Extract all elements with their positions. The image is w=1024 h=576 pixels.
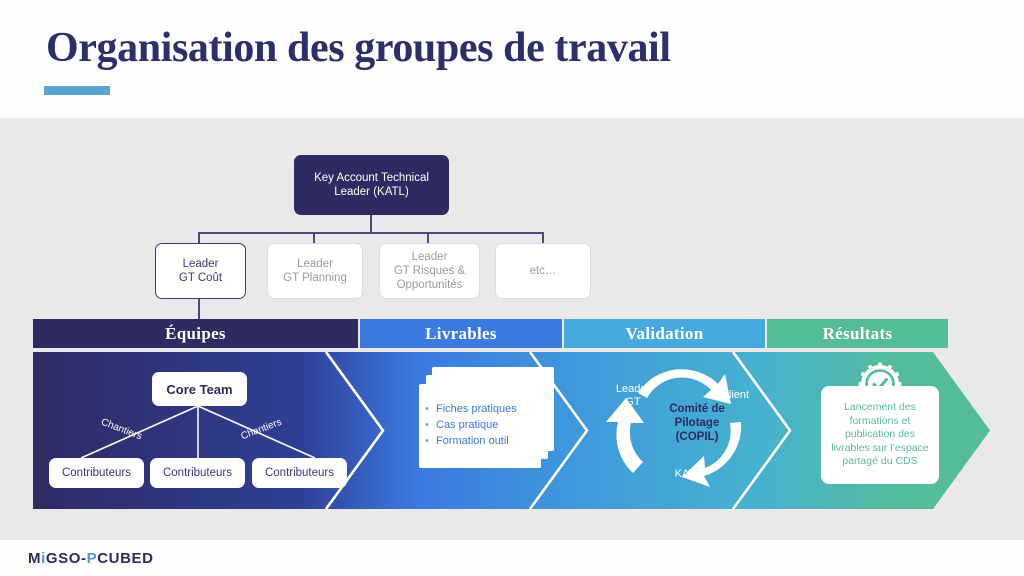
contributor-label-3: Contributeurs [265,467,334,479]
brand-logo: MiGSO-PCUBED [28,550,154,567]
org-node-katl[interactable]: Key Account Technical Leader (KATL) [294,155,449,215]
core-team-label: Core Team [166,382,232,397]
band-header-equipes-label: Équipes [165,324,226,344]
title-underline-rule [44,86,110,95]
org-node-3-line2: GT Risques & [394,265,465,277]
logo-part-3: CUBED [97,550,153,567]
deliverable-label-3: Formation outil [436,435,509,447]
org-node-1-line1: Leader [183,258,219,270]
bullet-icon: ▪ [425,417,436,433]
org-node-3-line3: Opportunités [397,279,463,291]
copil-line2: Pilotage [675,417,720,429]
org-node-3-line1: Leader [412,251,448,263]
band-header-livrables[interactable]: Livrables [360,319,562,348]
band-header-resultats-label: Résultats [823,324,893,344]
contributor-node-1[interactable]: Contributeurs [49,458,144,488]
validation-node-leader-gt-line1: Leader [616,383,650,395]
org-node-4-label: etc… [530,264,557,278]
org-node-katl-line2: Leader (KATL) [334,186,409,198]
contributor-label-1: Contributeurs [62,467,131,479]
org-connector-horizontal [198,232,543,234]
band-header-equipes[interactable]: Équipes [33,319,358,348]
contributor-node-2[interactable]: Contributeurs [150,458,245,488]
copil-line1: Comité de [669,403,725,415]
org-node-2-line2: GT Planning [283,272,347,284]
core-team-node[interactable]: Core Team [152,372,247,406]
band-header-resultats[interactable]: Résultats [767,319,948,348]
list-item: ▪Cas pratique [425,417,545,433]
org-node-etc[interactable]: etc… [495,243,591,299]
org-node-2-line1: Leader [297,258,333,270]
validation-center-copil: Comité de Pilotage (COPIL) [642,402,752,444]
logo-accent-2: P [87,550,98,567]
org-node-katl-line1: Key Account Technical [314,172,429,184]
deliverable-list: ▪Fiches pratiques ▪Cas pratique ▪Formati… [425,401,545,449]
results-text: Lancement des formations et publication … [827,401,933,469]
list-item: ▪Formation outil [425,433,545,449]
contributor-node-3[interactable]: Contributeurs [252,458,347,488]
logo-part-2: GSO- [46,550,87,567]
contributor-label-2: Contributeurs [163,467,232,479]
bullet-icon: ▪ [425,433,436,449]
slide: Organisation des groupes de travail Key … [0,0,1024,576]
band-header-validation[interactable]: Validation [564,319,765,348]
band-header-livrables-label: Livrables [425,324,497,344]
deliverable-label-1: Fiches pratiques [436,403,517,415]
validation-node-client: Client [710,389,760,402]
deliverable-label-2: Cas pratique [436,419,498,431]
org-node-leader-gt-planning[interactable]: Leader GT Planning [267,243,363,299]
bullet-icon: ▪ [425,401,436,417]
org-connector-coordinator-stem [198,297,200,319]
org-node-1-line2: GT Coût [179,272,222,284]
validation-node-leader-gt-line2: GT [625,396,640,408]
validation-node-katl: KATL [662,468,714,481]
results-card[interactable]: Lancement des formations et publication … [821,386,939,484]
band-header-validation-label: Validation [626,324,704,344]
org-node-leader-gt-cout[interactable]: Leader GT Coût [155,243,246,299]
logo-part-1: M [28,550,41,567]
org-connector-vertical-root [370,215,372,233]
org-node-leader-gt-risques[interactable]: Leader GT Risques & Opportunités [379,243,480,299]
copil-line3: (COPIL) [676,431,719,443]
page-title: Organisation des groupes de travail [46,24,671,72]
list-item: ▪Fiches pratiques [425,401,545,417]
